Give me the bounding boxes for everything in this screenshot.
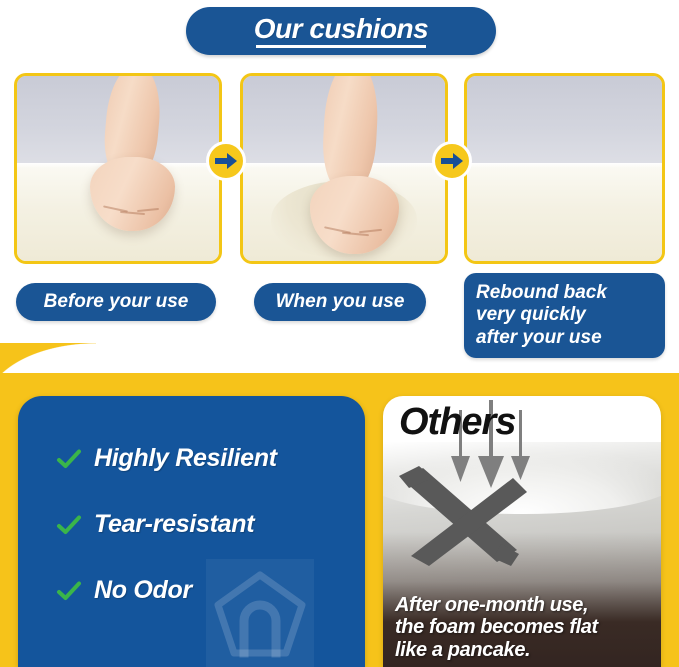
others-caption-line: After one-month use,	[395, 594, 653, 616]
page-title-inner: Our cushions	[254, 15, 428, 47]
step-photo-during	[240, 73, 448, 264]
knuckle-crease	[137, 208, 159, 212]
others-caption-line: the foam becomes flat	[395, 616, 653, 638]
feature-label: Tear-resistant	[94, 510, 254, 539]
feature-item-no-odor: No Odor	[56, 576, 355, 605]
arrow-right-icon	[206, 141, 246, 181]
photo-scene	[17, 76, 219, 261]
step-photo-before	[14, 73, 222, 264]
check-icon	[56, 512, 82, 538]
caption-text: Before your use	[44, 291, 189, 313]
step-photo-after	[464, 73, 665, 264]
title-underline	[256, 45, 426, 48]
caption-line: after your use	[476, 327, 602, 349]
caption-when-you-use: When you use	[254, 283, 426, 321]
infographic-page: Our cushions	[0, 0, 679, 667]
feature-item-tear-resistant: Tear-resistant	[56, 510, 355, 539]
caption-text: When you use	[276, 291, 405, 313]
photo-background-wall	[467, 76, 662, 163]
caption-before-your-use: Before your use	[16, 283, 216, 321]
others-caption-line: like a pancake.	[395, 639, 653, 661]
feature-label: No Odor	[94, 576, 192, 605]
photo-foam-surface	[467, 163, 662, 261]
caption-line: Rebound back	[476, 282, 607, 304]
knuckle-crease	[359, 229, 382, 233]
features-list: Highly Resilient Tear-resistant No Odor	[56, 444, 355, 642]
check-icon	[56, 446, 82, 472]
knuckle-crease	[120, 211, 146, 215]
photo-scene	[243, 76, 445, 261]
knuckle-crease	[342, 232, 369, 236]
others-caption: After one-month use, the foam becomes fl…	[395, 594, 653, 661]
caption-line: very quickly	[476, 304, 586, 326]
photo-scene	[467, 76, 662, 261]
x-cross-icon	[389, 458, 529, 578]
feature-label: Highly Resilient	[94, 444, 277, 473]
page-title: Our cushions	[254, 15, 428, 43]
caption-rebound-back: Rebound back very quickly after your use	[464, 273, 665, 358]
others-title: Others	[399, 401, 515, 444]
check-icon	[56, 578, 82, 604]
features-panel: Highly Resilient Tear-resistant No Odor	[18, 396, 365, 667]
page-title-pill: Our cushions	[186, 7, 496, 55]
feature-item-highly-resilient: Highly Resilient	[56, 444, 355, 473]
others-panel: Others	[383, 396, 661, 667]
arrow-right-icon	[432, 141, 472, 181]
